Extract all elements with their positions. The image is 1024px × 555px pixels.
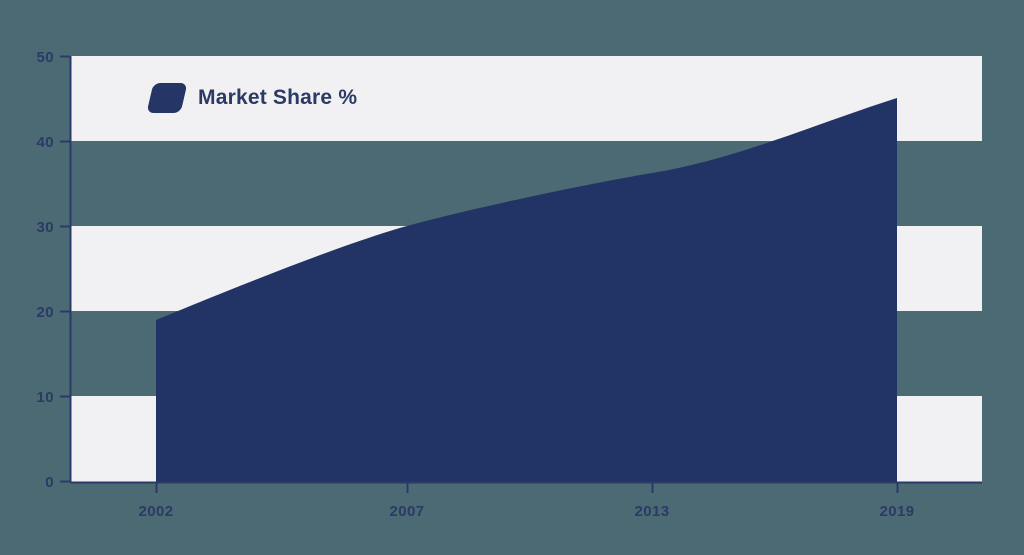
y-axis-ticks: 50 40 30 20 10 0 [37, 49, 71, 491]
y-tick-label-20: 20 [37, 304, 55, 321]
y-tick-label-30: 30 [37, 219, 55, 236]
x-axis-ticks: 2002 2007 2013 2019 [139, 483, 915, 520]
x-tick-label-2019: 2019 [880, 503, 915, 520]
x-tick-label-2002: 2002 [139, 503, 174, 520]
y-tick-label-10: 10 [37, 389, 55, 406]
series-market-share [156, 98, 897, 482]
y-tick-label-40: 40 [37, 134, 55, 151]
chart-legend[interactable]: Market Share % [150, 83, 357, 113]
x-tick-label-2013: 2013 [635, 503, 670, 520]
area-chart: 50 40 30 20 10 0 2002 2007 2013 2019 [0, 0, 1024, 555]
legend-swatch-icon [147, 83, 188, 113]
area-fill [156, 98, 897, 482]
y-tick-label-50: 50 [37, 49, 55, 66]
y-tick-label-0: 0 [45, 474, 54, 491]
x-tick-label-2007: 2007 [390, 503, 425, 520]
legend-item-label: Market Share % [198, 86, 357, 110]
